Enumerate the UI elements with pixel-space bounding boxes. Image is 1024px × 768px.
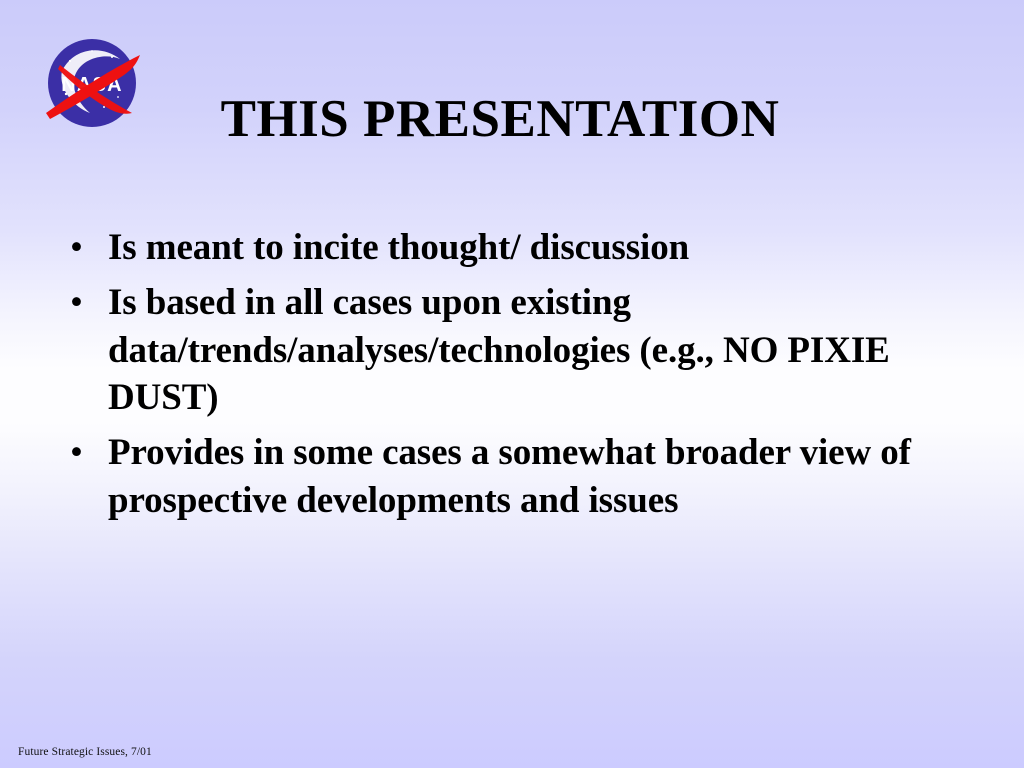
bullet-text: Is meant to incite thought/ discussion xyxy=(108,224,982,271)
slide-body: • Is meant to incite thought/ discussion… xyxy=(62,224,982,532)
bullet-item: • Is based in all cases upon existing da… xyxy=(62,279,982,421)
slide-title: THIS PRESENTATION xyxy=(160,92,840,148)
bullet-text: Provides in some cases a somewhat broade… xyxy=(108,429,982,524)
slide-footer: Future Strategic Issues, 7/01 xyxy=(18,746,152,758)
nasa-insignia-logo: NASA xyxy=(40,31,144,135)
bullet-marker: • xyxy=(62,429,108,476)
bullet-marker: • xyxy=(62,279,108,326)
bullet-text: Is based in all cases upon existing data… xyxy=(108,279,982,421)
bullet-item: • Is meant to incite thought/ discussion xyxy=(62,224,982,271)
slide-canvas: NASA THIS PRESENTATION • Is meant to inc… xyxy=(0,0,1024,768)
bullet-item: • Provides in some cases a somewhat broa… xyxy=(62,429,982,524)
bullet-marker: • xyxy=(62,224,108,271)
